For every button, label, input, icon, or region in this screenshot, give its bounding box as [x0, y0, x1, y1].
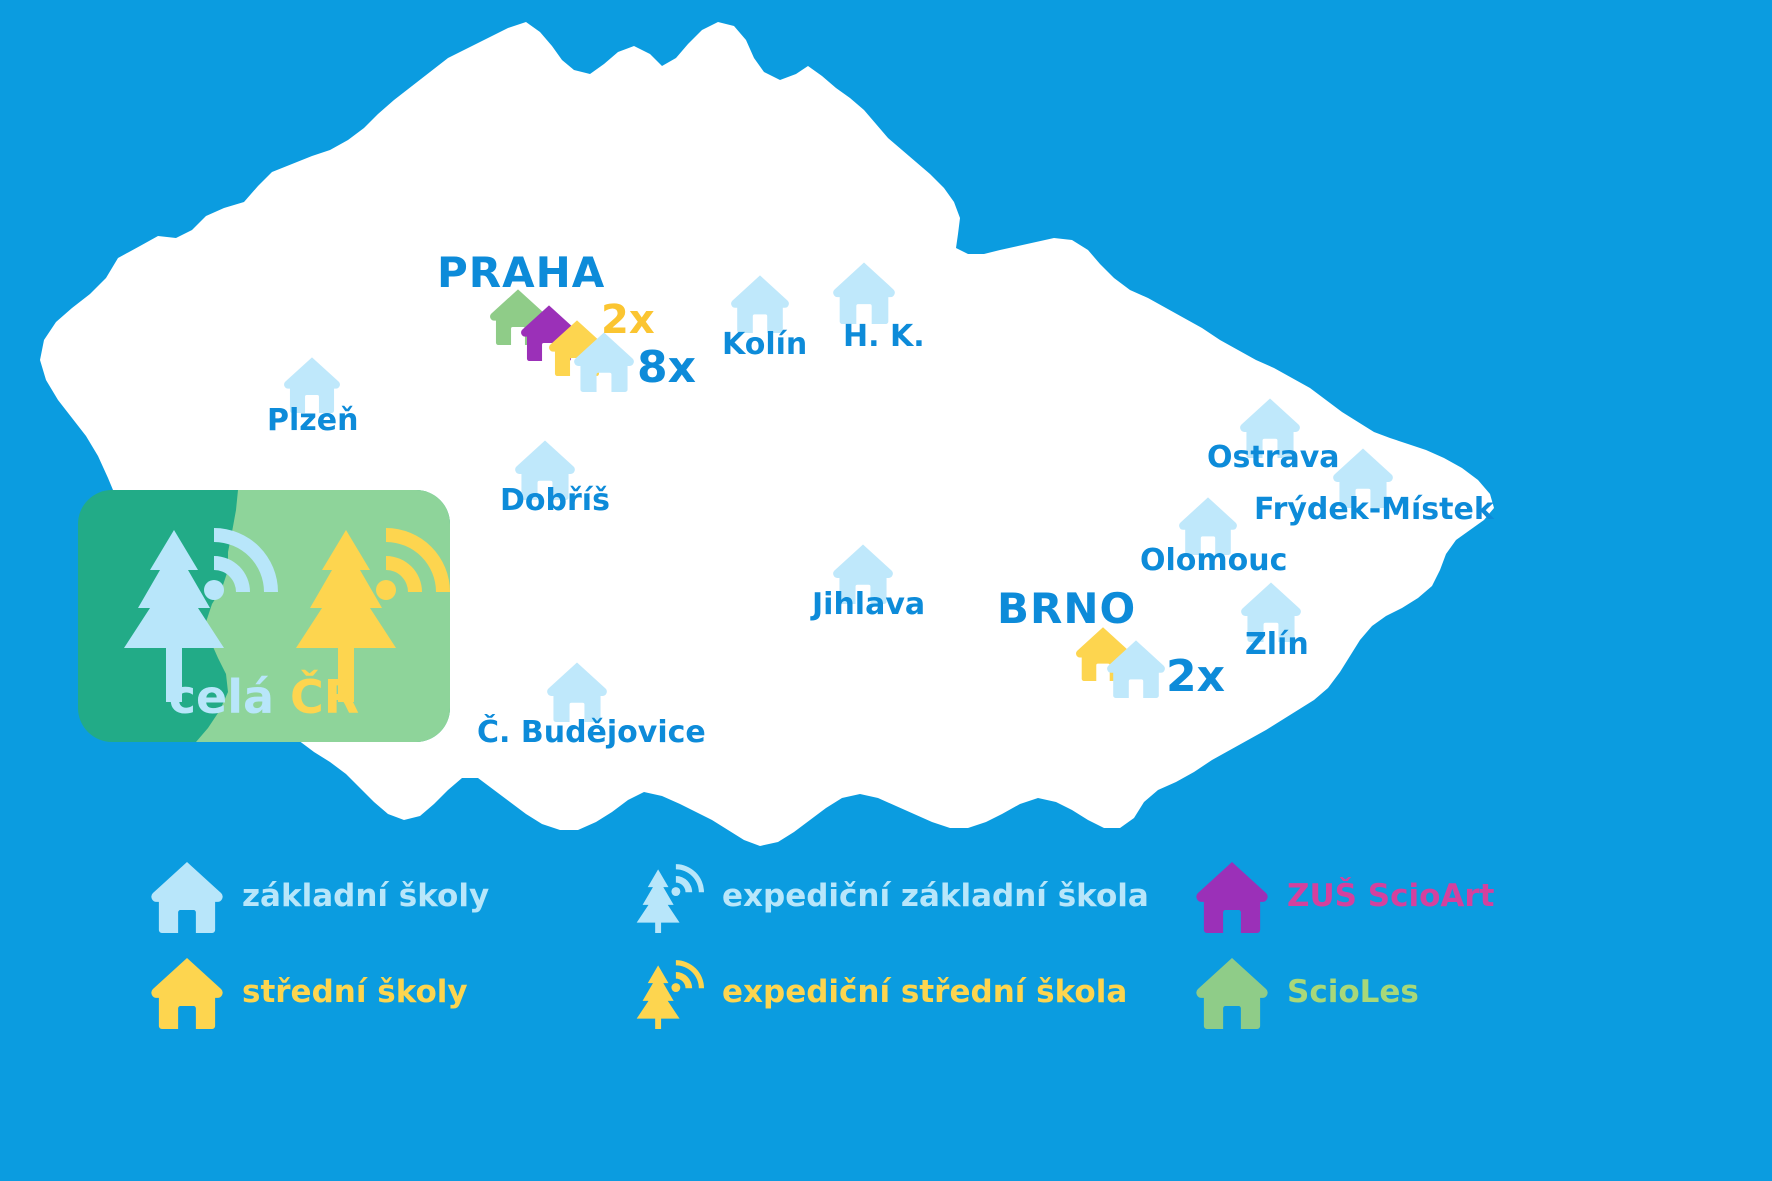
house-icon — [150, 955, 224, 1029]
legend-label-scioles: ScioLes — [1287, 977, 1419, 1008]
legend-label-zus-scioart: ZUŠ ScioArt — [1287, 881, 1495, 912]
count-brno-zakladni: 2x — [1166, 655, 1225, 699]
city-label-dobris: Dobříš — [500, 486, 610, 516]
city-label-zlin: Zlín — [1245, 630, 1309, 660]
city-label-brno: BRNO — [997, 588, 1136, 630]
legend-item-expedicni-stredni[interactable]: expediční střední škola — [630, 944, 1149, 1040]
legend-column-schools: základní školy střední školy — [150, 848, 489, 1040]
marker-kolin[interactable] — [731, 275, 789, 333]
house-icon — [150, 859, 224, 933]
city-label-ostrava: Ostrava — [1207, 443, 1340, 473]
count-praha-stredni: 2x — [601, 300, 655, 340]
infographic-map: celá ČR — [0, 0, 1772, 1181]
marker-ceske-budejovice[interactable] — [547, 662, 607, 722]
count-praha-zakladni: 8x — [637, 346, 696, 390]
city-label-frydek-mistek: Frýdek-Místek — [1254, 495, 1494, 525]
house-icon — [1195, 955, 1269, 1029]
legend-item-stredni-skoly[interactable]: střední školy — [150, 944, 489, 1040]
legend-column-expedicni: expediční základní škola expediční střed… — [630, 848, 1149, 1040]
city-label-jihlava: Jihlava — [812, 590, 925, 620]
city-label-ceske-budejovice: Č. Budějovice — [477, 718, 706, 748]
city-label-plzen: Plzeň — [267, 406, 358, 436]
legend-label-expedicni-zakladni: expediční základní škola — [722, 881, 1149, 912]
house-icon — [1195, 859, 1269, 933]
legend-item-zakladni-skoly[interactable]: základní školy — [150, 848, 489, 944]
legend-label-expedicni-stredni: expediční střední škola — [722, 977, 1127, 1008]
tree-wifi-icon — [630, 955, 704, 1029]
city-label-praha: PRAHA — [437, 252, 605, 294]
tree-wifi-icon — [630, 859, 704, 933]
legend: základní školy střední školy — [0, 848, 1772, 1048]
marker-hradec-kralove[interactable] — [833, 263, 895, 324]
city-label-kolin: Kolín — [722, 330, 807, 360]
legend-column-programs: ZUŠ ScioArt ScioLes — [1195, 848, 1495, 1040]
legend-item-expedicni-zakladni[interactable]: expediční základní škola — [630, 848, 1149, 944]
legend-label-stredni-skoly: střední školy — [242, 977, 468, 1008]
city-label-hradec-kralove: H. K. — [843, 322, 925, 352]
legend-item-scioles[interactable]: ScioLes — [1195, 944, 1495, 1040]
legend-item-zus-scioart[interactable]: ZUŠ ScioArt — [1195, 848, 1495, 944]
city-label-olomouc: Olomouc — [1140, 546, 1287, 576]
legend-label-zakladni-skoly: základní školy — [242, 881, 489, 912]
